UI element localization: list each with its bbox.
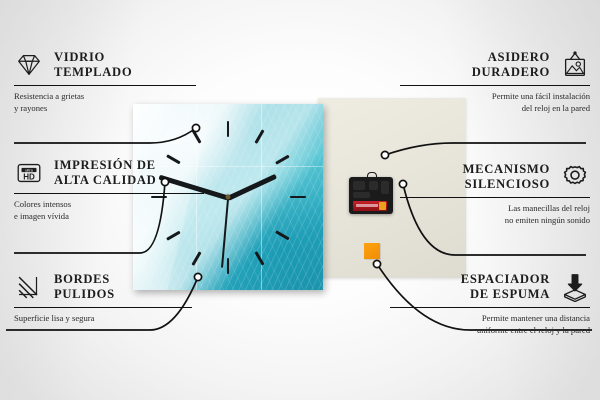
feature-title-line2: SILENCIOSO [463,177,550,192]
feature-title-line2: DE ESPUMA [461,287,550,302]
mechanism-detail [381,181,389,194]
feature-divider [14,193,204,194]
mechanism-battery [353,201,387,211]
battery-positive-terminal [379,202,386,210]
feature-espaciador-de-espuma: ESPACIADOR DE ESPUMA Permite mantener un… [384,272,590,337]
feature-title: ASIDERO DURADERO [472,50,550,81]
feature-description: Superficie lisa y segura [14,312,200,324]
hour-tick [275,231,289,241]
clock-mechanism [349,172,393,214]
foam-spacer-pad [364,243,380,259]
feature-divider [14,307,192,308]
feature-description: Resistencia a grietas y rayones [14,90,204,114]
feature-title-line2: DURADERO [472,65,550,80]
hanging-picture-icon [560,50,590,80]
ultra-hd-icon: ultra HD [14,158,44,188]
gear-icon [560,162,590,192]
feature-asidero-duradero: ASIDERO DURADERO Permite una fácil insta… [394,50,590,115]
ultra-hd-icon-bottom-text: HD [23,173,35,182]
mechanism-detail [353,192,370,198]
feature-description: Las manecillas del reloj no emiten ningú… [394,202,590,226]
feature-description: Permite una fácil instalación del reloj … [394,90,590,114]
product-infographic: VIDRIO TEMPLADO Resistencia a grietas y … [0,0,600,400]
feature-title-line1: BORDES [54,272,115,287]
feature-bordes-pulidos: BORDES PULIDOS Superficie lisa y segura [14,272,200,324]
hour-tick [227,121,230,137]
feature-divider [390,307,590,308]
mechanism-body [349,177,393,214]
hour-hand [227,174,277,201]
feature-title-line2: TEMPLADO [54,65,132,80]
feature-title: MECANISMO SILENCIOSO [463,162,550,193]
hour-tick [290,196,306,199]
feature-description: Colores intensos e imagen vívida [14,198,210,222]
foam-spacer-icon [560,272,590,302]
feature-description: Permite mantener una distancia uniforme … [384,312,590,336]
feature-divider [14,85,196,86]
hour-tick [227,258,230,274]
feature-title-line1: ASIDERO [472,50,550,65]
mechanism-detail [369,181,378,190]
feature-title: BORDES PULIDOS [54,272,115,303]
hour-tick [275,155,289,165]
feature-impresion-alta-calidad: ultra HD IMPRESIÓN DE ALTA CALIDAD Color… [14,158,210,223]
hour-tick [254,129,264,143]
hour-tick [166,231,180,241]
feature-title-line2: PULIDOS [54,287,115,302]
feature-title-line1: MECANISMO [463,162,550,177]
feature-divider [400,85,590,86]
feature-title-line1: IMPRESIÓN DE [54,158,156,173]
hour-tick [191,251,201,265]
hour-tick [254,251,264,265]
feature-mecanismo-silencioso: MECANISMO SILENCIOSO Las manecillas del … [394,162,590,227]
feature-title-line1: ESPACIADOR [461,272,550,287]
feature-vidrio-templado: VIDRIO TEMPLADO Resistencia a grietas y … [14,50,204,115]
feature-title-line2: ALTA CALIDAD [54,173,156,188]
feature-title-line1: VIDRIO [54,50,132,65]
feature-divider [400,197,590,198]
hour-tick [191,129,201,143]
mechanism-detail [353,181,365,190]
feature-title: IMPRESIÓN DE ALTA CALIDAD [54,158,156,189]
battery-label [356,204,378,207]
feature-title: ESPACIADOR DE ESPUMA [461,272,550,303]
feature-title: VIDRIO TEMPLADO [54,50,132,81]
clock-hands-hub [226,195,231,200]
polished-edges-icon [14,272,44,302]
diamond-icon [14,50,44,80]
